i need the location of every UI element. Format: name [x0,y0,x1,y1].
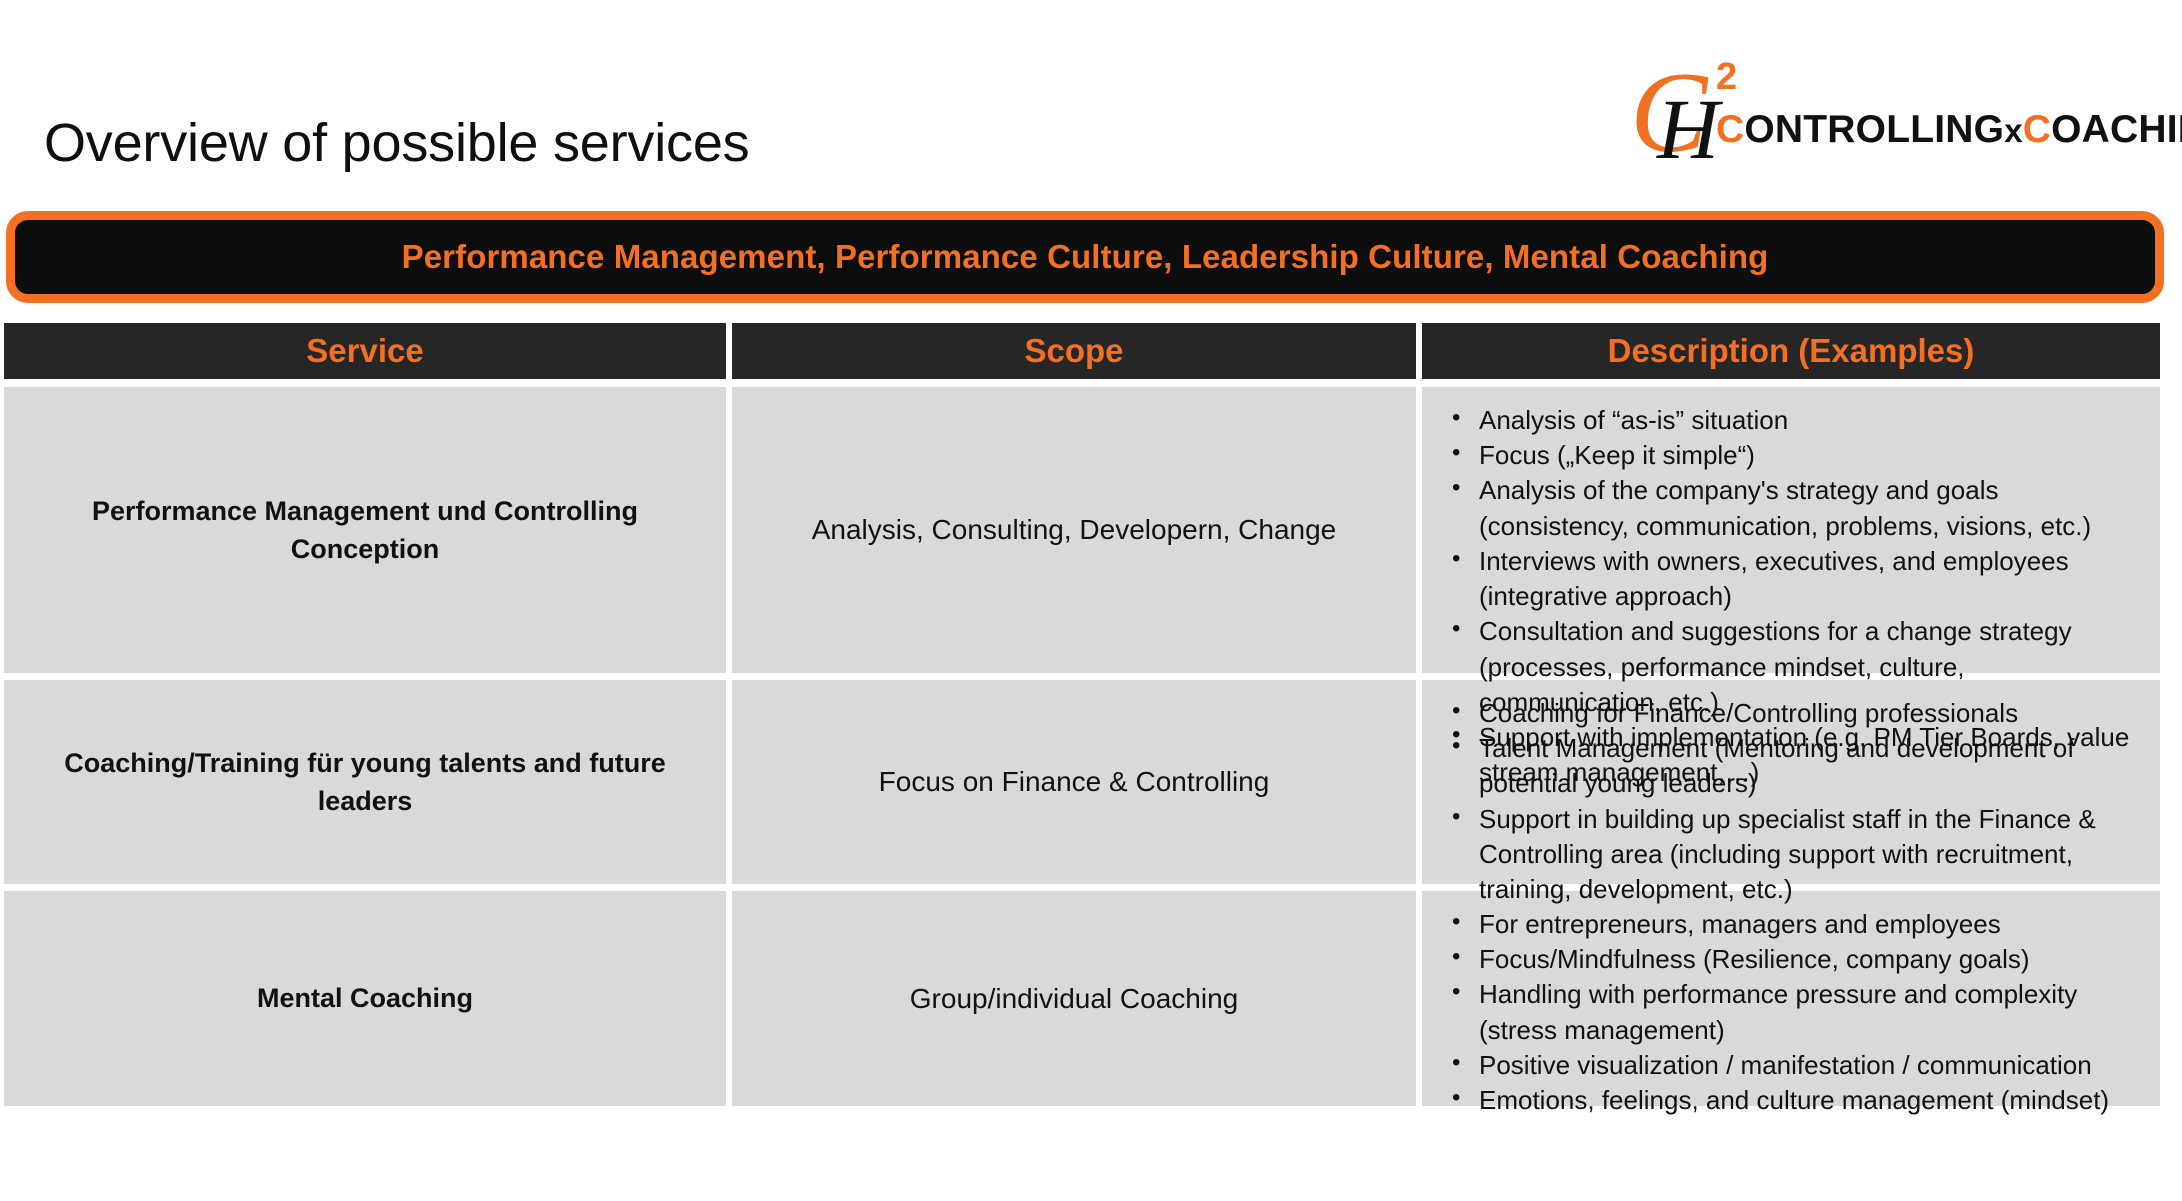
list-item: Positive visualization / manifestation /… [1444,1048,2136,1083]
column-header-scope-label: Scope [1024,332,1123,370]
logo-superscript-glyph: 2 [1716,58,1737,96]
cell-service-label: Performance Management und Controlling C… [32,492,698,569]
column-header-description-label: Description (Examples) [1608,332,1975,370]
table-body: Performance Management und Controlling C… [4,387,2160,1106]
list-item: Talent Management (Mentoring and develop… [1444,731,2136,801]
list-item: Coaching for Finance/Controlling profess… [1444,696,2136,731]
cell-description: Analysis of “as-is” situation Focus („Ke… [1422,387,2160,673]
list-item: For entrepreneurs, managers and employee… [1444,907,2136,942]
list-item: Analysis of “as-is” situation [1444,403,2136,438]
company-logo: C 2 H CONTROLLINGxCOACHING [1630,58,2160,168]
list-item: Analysis of the company's strategy and g… [1444,473,2136,543]
cell-service: Performance Management und Controlling C… [4,387,726,673]
column-header-scope: Scope [732,323,1416,379]
list-item: Focus/Mindfulness (Resilience, company g… [1444,942,2136,977]
cell-scope: Analysis, Consulting, Developern, Change [732,387,1416,673]
cell-service-label: Mental Coaching [257,979,473,1017]
slide: Overview of possible services C 2 H CONT… [0,0,2182,1201]
list-item: Emotions, feelings, and culture manageme… [1444,1083,2136,1118]
description-bullet-list: For entrepreneurs, managers and employee… [1444,907,2136,1118]
logo-h-glyph: H [1657,86,1719,172]
topic-banner-text: Performance Management, Performance Cult… [402,238,1769,276]
table-header-row: Service Scope Description (Examples) [4,323,2160,379]
cell-scope-label: Analysis, Consulting, Developern, Change [812,510,1337,550]
column-header-description: Description (Examples) [1422,323,2160,379]
topic-banner: Performance Management, Performance Cult… [6,211,2164,303]
logo-wordmark-coaching-initial: C [2023,108,2051,151]
description-bullet-list: Coaching for Finance/Controlling profess… [1444,696,2136,907]
logo-wordmark-separator: x [2004,112,2023,149]
table-row: Performance Management und Controlling C… [4,387,2160,673]
logo-wordmark: CONTROLLINGxCOACHING [1716,110,2182,149]
list-item: Support in building up specialist staff … [1444,802,2136,908]
cell-scope: Focus on Finance & Controlling [732,680,1416,884]
cell-description: For entrepreneurs, managers and employee… [1422,891,2160,1106]
services-table: Service Scope Description (Examples) Per… [4,323,2160,1113]
column-header-service-label: Service [306,332,423,370]
list-item: Focus („Keep it simple“) [1444,438,2136,473]
cell-scope-label: Group/individual Coaching [910,979,1238,1019]
cell-service-label: Coaching/Training für young talents and … [32,744,698,821]
cell-service: Mental Coaching [4,891,726,1106]
cell-scope: Group/individual Coaching [732,891,1416,1106]
table-row: Mental Coaching Group/individual Coachin… [4,891,2160,1106]
page-title: Overview of possible services [44,112,749,174]
logo-wordmark-coaching-rest: OACHING [2051,108,2182,151]
logo-wordmark-controlling-rest: ONTROLLING [1744,108,2004,151]
cell-scope-label: Focus on Finance & Controlling [879,762,1270,802]
cell-service: Coaching/Training für young talents and … [4,680,726,884]
column-header-service: Service [4,323,726,379]
cell-description: Coaching for Finance/Controlling profess… [1422,680,2160,884]
list-item: Handling with performance pressure and c… [1444,977,2136,1047]
table-row: Coaching/Training für young talents and … [4,680,2160,884]
list-item: Interviews with owners, executives, and … [1444,544,2136,614]
logo-wordmark-controlling-initial: C [1716,108,1744,151]
